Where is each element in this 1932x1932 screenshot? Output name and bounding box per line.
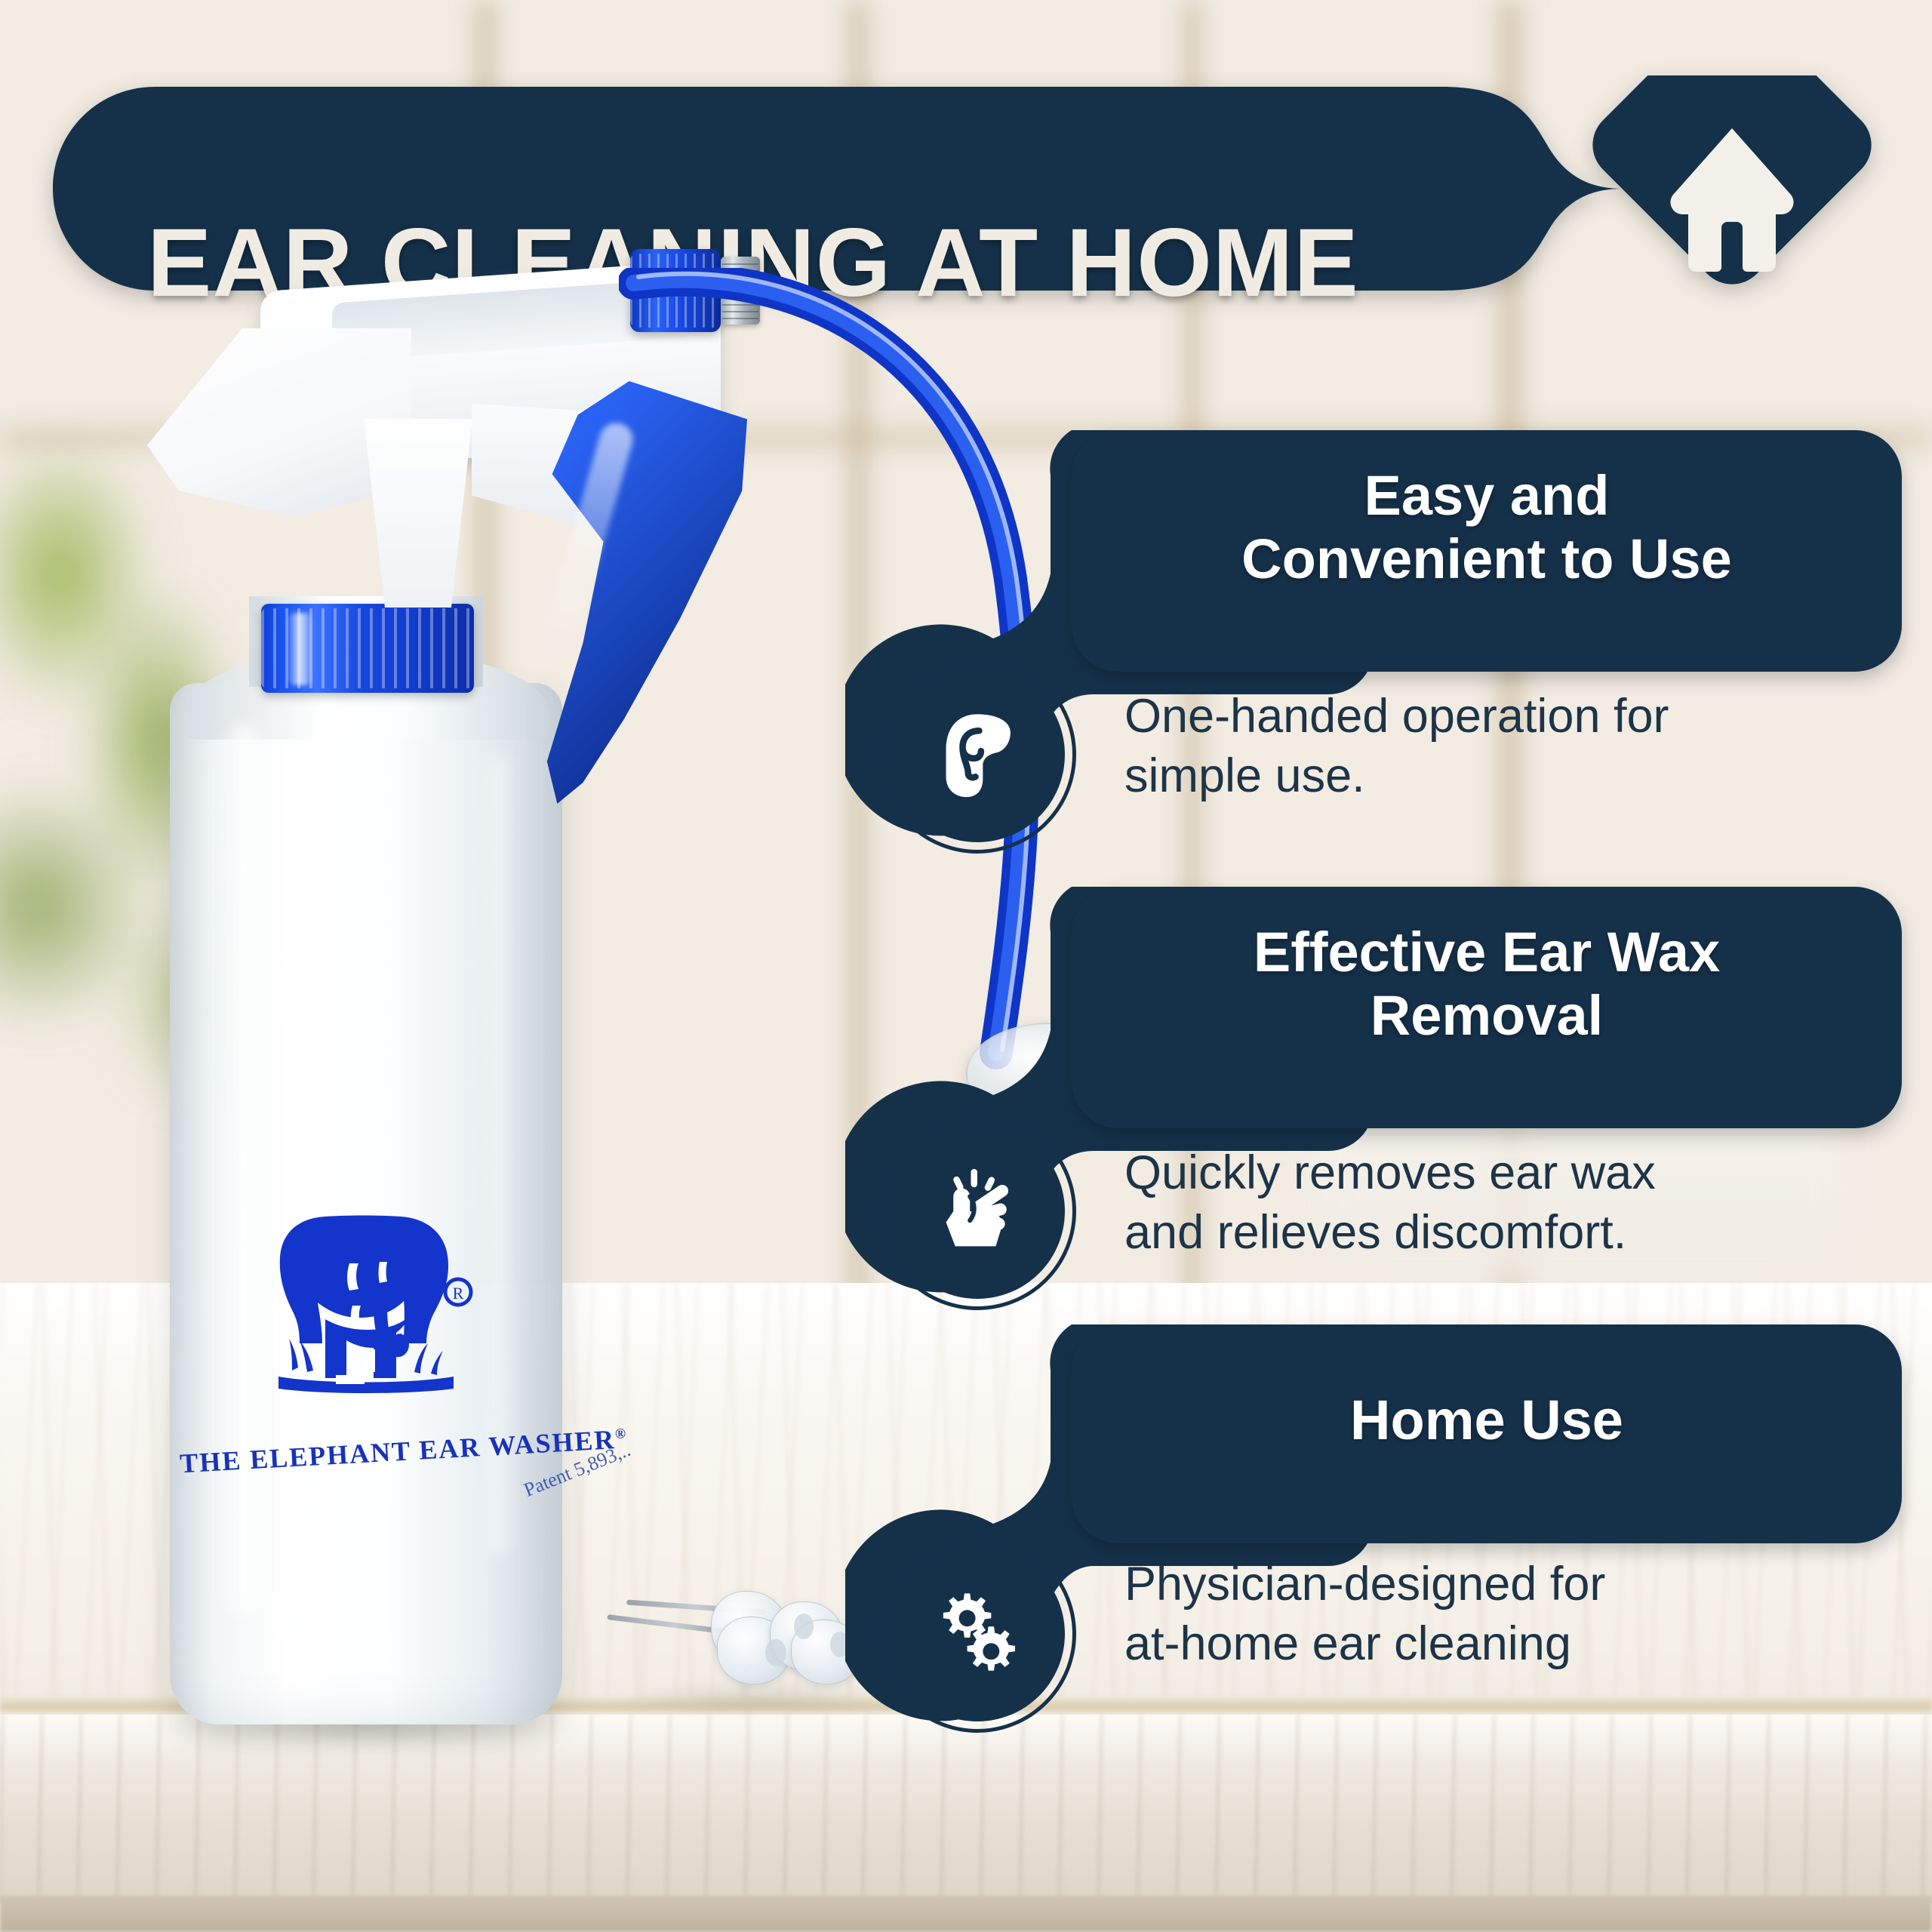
- feature-1-title-line1: Easy and: [1087, 464, 1887, 528]
- feature-1-desc-line2: simple use.: [1124, 746, 1917, 806]
- gears-icon: [890, 1546, 1065, 1721]
- ear-tip-bore: [765, 1639, 786, 1666]
- hand-cleaning-icon: [890, 1124, 1065, 1299]
- hand-cleaning-glyph: [931, 1165, 1023, 1257]
- feature-2-description: Quickly removes ear wax and relieves dis…: [1124, 1143, 1917, 1263]
- feature-1-desc-line1: One-handed operation for: [1124, 687, 1917, 746]
- bottle-collar-highlight: [287, 613, 314, 685]
- ear-glyph: [931, 709, 1023, 801]
- feature-1-description: One-handed operation for simple use.: [1124, 687, 1917, 807]
- bottle-highlight: [219, 724, 269, 1615]
- svg-text:R: R: [453, 1284, 464, 1303]
- gears-glyph: [931, 1588, 1023, 1680]
- feature-3-title-line1: Home Use: [1087, 1389, 1887, 1452]
- feature-3-description: Physician-designed for at-home ear clean…: [1124, 1555, 1917, 1675]
- registered-mark-logo: R: [445, 1279, 471, 1305]
- ear-tip-bore: [794, 1614, 814, 1639]
- feature-2-title-line1: Effective Ear Wax: [1087, 921, 1887, 984]
- infographic-canvas: EAR CLEANING AT HOME: [0, 0, 1932, 1932]
- feature-2-title: Effective Ear Wax Removal: [1087, 921, 1887, 1048]
- ear-icon: [890, 667, 1065, 842]
- feature-3-title: Home Use: [1087, 1389, 1887, 1452]
- feature-1-title-line2: Convenient to Use: [1087, 528, 1887, 591]
- feature-2-desc-line2: and relieves discomfort.: [1124, 1203, 1917, 1263]
- feature-2-title-line2: Removal: [1087, 984, 1887, 1048]
- elephant-logo: R: [253, 1200, 479, 1426]
- feature-3-desc-line1: Physician-designed for: [1124, 1555, 1917, 1614]
- feature-3-desc-line2: at-home ear cleaning: [1124, 1614, 1917, 1674]
- feature-1-title: Easy and Convenient to Use: [1087, 464, 1887, 592]
- feature-2-desc-line1: Quickly removes ear wax: [1124, 1143, 1917, 1203]
- countertop-base: [0, 1896, 1932, 1932]
